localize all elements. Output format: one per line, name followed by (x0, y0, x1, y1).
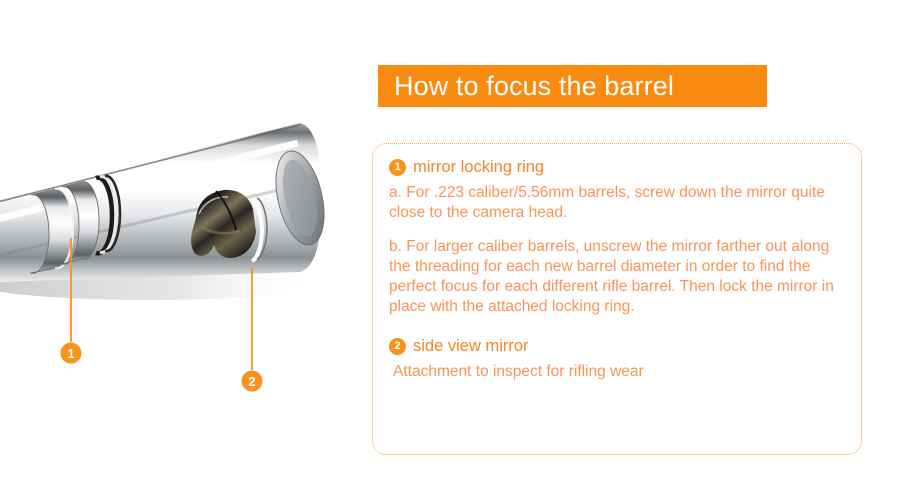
instruction-1-heading: 1 mirror locking ring (389, 158, 839, 176)
instructions-panel: 1 mirror locking ring a. For .223 calibe… (372, 143, 862, 455)
page-title: How to focus the barrel (394, 73, 674, 100)
instruction-block-1: 1 mirror locking ring a. For .223 calibe… (389, 158, 839, 317)
barrel-diagram-svg: 1 2 (0, 0, 360, 493)
instruction-2-heading: 2 side view mirror (389, 337, 839, 355)
instruction-2-title: side view mirror (413, 337, 529, 355)
product-illustration: 1 2 (0, 0, 360, 493)
instruction-1-paragraph-a: a. For .223 caliber/5.56mm barrels, scre… (389, 183, 839, 223)
badge-1-icon: 1 (389, 159, 406, 176)
page-root: 1 2 How to focus the barrel 1 mirror loc… (0, 0, 900, 493)
instruction-1-title: mirror locking ring (413, 158, 544, 176)
badge-2-icon: 2 (389, 338, 406, 355)
instruction-2-paragraph: Attachment to inspect for rifling wear (389, 362, 839, 382)
instruction-1-paragraph-b: b. For larger caliber barrels, unscrew t… (389, 237, 839, 317)
callout-1-badge-label: 1 (67, 346, 74, 361)
instruction-block-2: 2 side view mirror Attachment to inspect… (389, 337, 839, 382)
callout-2-badge-label: 2 (248, 374, 255, 389)
header-banner: How to focus the barrel (378, 65, 767, 107)
